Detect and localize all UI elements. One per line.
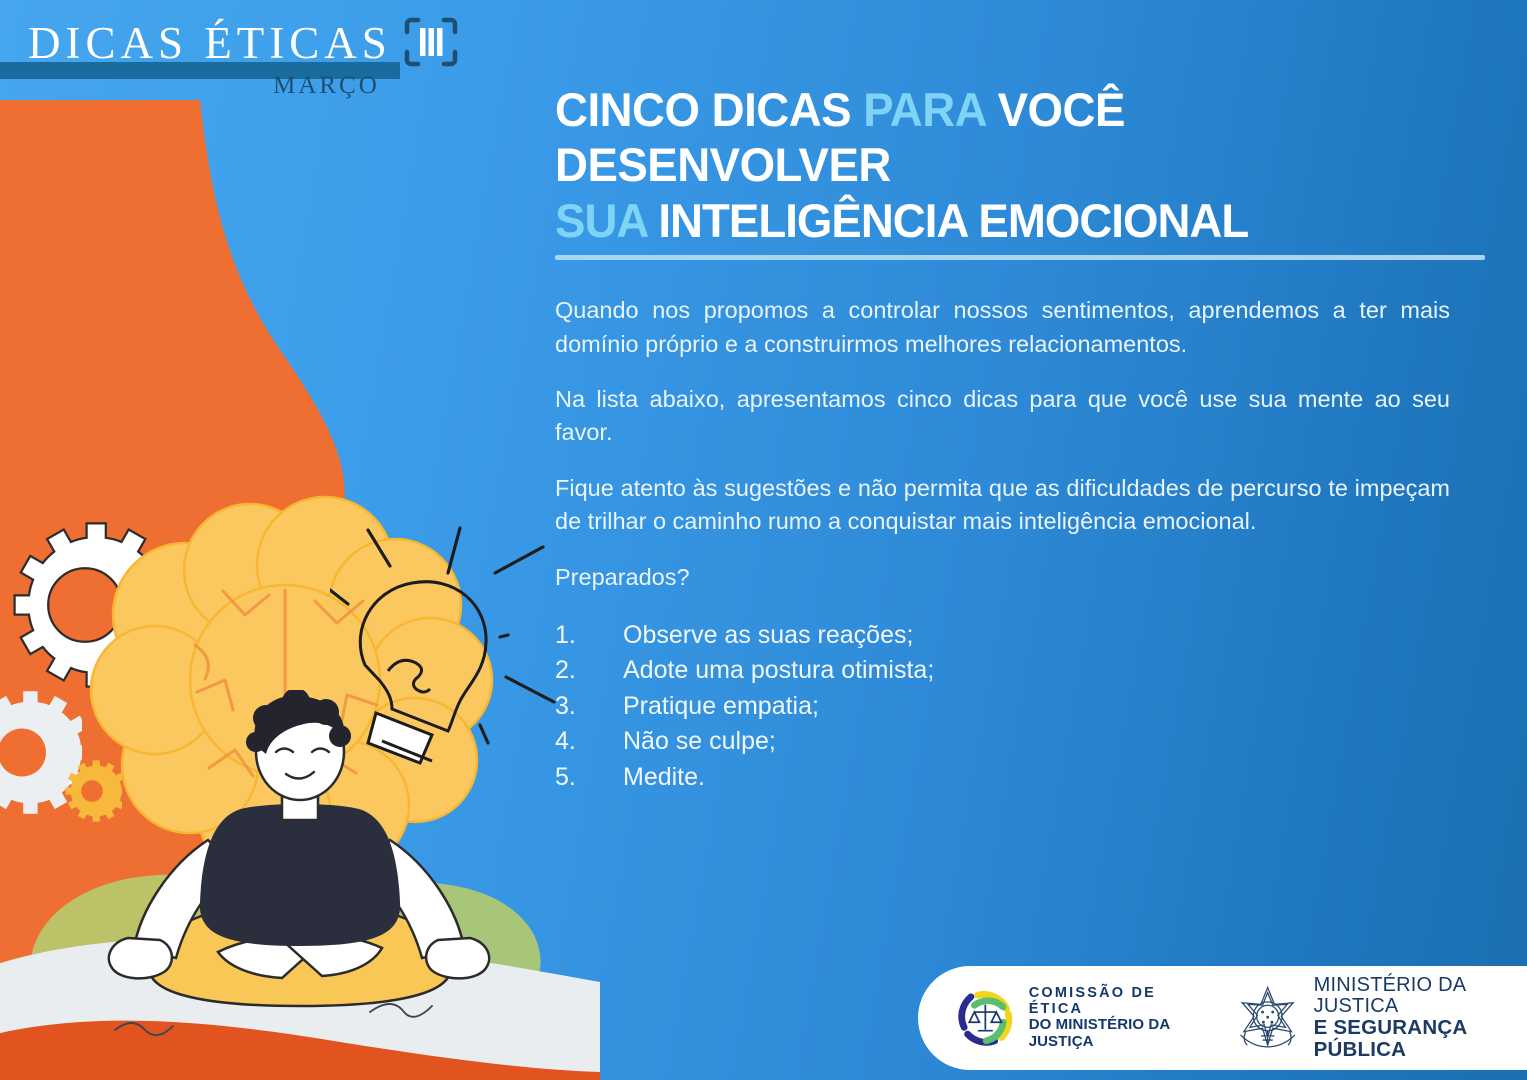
tips-list: 1. Observe as suas reações; 2. Adote uma… [555, 618, 1450, 796]
list-item: 2. Adote uma postura otimista; [555, 653, 1450, 689]
list-item-number: 5. [555, 760, 623, 796]
paragraph-4-preparados: Preparados? [555, 561, 1450, 594]
brand-title: DICAS ÉTICAS [28, 21, 392, 66]
title-part-inteligencia-emocional: INTELIGÊNCIA EMOCIONAL [658, 194, 1248, 247]
ethics-logo-line1: COMISSÃO DE ÉTICA [1029, 986, 1207, 1017]
ministry-logo-line1: MINISTÉRIO DA JUSTICA [1314, 975, 1527, 1017]
paragraph-1: Quando nos propomos a controlar nossos s… [555, 294, 1450, 361]
poster-canvas: DICAS ÉTICAS MARÇO [0, 0, 1527, 1080]
illustration-panel [0, 0, 620, 1080]
list-item: 4. Não se culpe; [555, 724, 1450, 760]
title-line-2: SUA INTELIGÊNCIA EMOCIONAL [555, 193, 1472, 248]
bracket-bars-icon [404, 16, 458, 68]
list-item: 5. Medite. [555, 760, 1450, 796]
title-part-para: PARA [863, 83, 985, 136]
paragraph-2: Na lista abaixo, apresentamos cinco dica… [555, 383, 1450, 450]
title-underline-rule [555, 255, 1485, 260]
page-title: CINCO DICAS PARA VOCÊ DESENVOLVER SUA IN… [555, 82, 1472, 248]
footer-logos-bar: COMISSÃO DE ÉTICA DO MINISTÉRIO DA JUSTI… [918, 966, 1527, 1070]
brand-logo: DICAS ÉTICAS MARÇO [28, 14, 458, 100]
ethics-logo-line2: DO MINISTÉRIO DA JUSTIÇA [1029, 1017, 1207, 1049]
list-item-label: Pratique empatia; [623, 689, 819, 725]
title-part-sua: SUA [555, 194, 647, 247]
ethics-commission-logo: COMISSÃO DE ÉTICA DO MINISTÉRIO DA JUSTI… [954, 981, 1207, 1055]
scales-of-justice-icon [954, 981, 1017, 1055]
list-item-number: 2. [555, 653, 623, 689]
list-item-label: Não se culpe; [623, 724, 776, 760]
ministry-logo-line2: E SEGURANÇA PÚBLICA [1314, 1017, 1527, 1060]
list-item-label: Adote uma postura otimista; [623, 653, 934, 689]
title-line-1: CINCO DICAS PARA VOCÊ DESENVOLVER [555, 82, 1472, 193]
title-part-cinco-dicas: CINCO DICAS [555, 83, 851, 136]
brand-month: MARÇO [28, 72, 458, 100]
list-item: 3. Pratique empatia; [555, 689, 1450, 725]
list-item-number: 3. [555, 689, 623, 725]
body-text: Quando nos propomos a controlar nossos s… [555, 294, 1450, 795]
ministry-logo: MINISTÉRIO DA JUSTICA E SEGURANÇA PÚBLIC… [1232, 975, 1527, 1061]
list-item-label: Medite. [623, 760, 705, 796]
brazil-coat-of-arms-icon [1232, 976, 1303, 1060]
list-item-number: 4. [555, 724, 623, 760]
list-item-number: 1. [555, 618, 623, 654]
list-item-label: Observe as suas reações; [623, 618, 913, 654]
paragraph-3: Fique atento às sugestões e não permita … [555, 472, 1450, 539]
list-item: 1. Observe as suas reações; [555, 618, 1450, 654]
content-column: CINCO DICAS PARA VOCÊ DESENVOLVER SUA IN… [555, 0, 1500, 1080]
meditating-person-icon [90, 690, 510, 1030]
